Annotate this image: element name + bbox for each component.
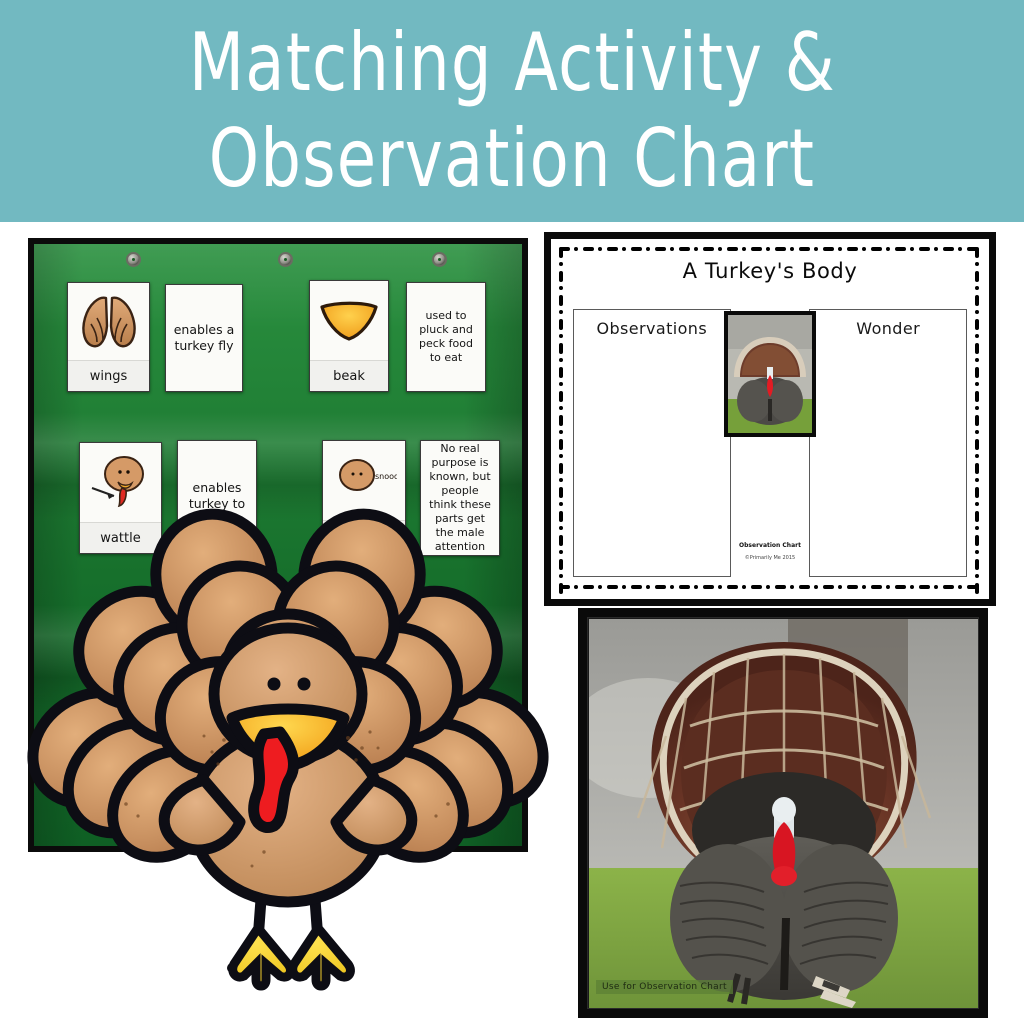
picture-card-wings[interactable]: wings bbox=[67, 282, 150, 392]
description-card-beak[interactable]: used to pluck and peck food to eat bbox=[406, 282, 486, 392]
grommet-icon bbox=[432, 252, 447, 267]
page-root: Matching Activity & Observation Chart bbox=[0, 0, 1024, 1024]
beak-card-label: beak bbox=[310, 360, 388, 391]
description-card-wings-text: enables a turkey fly bbox=[171, 322, 237, 354]
real-turkey-photograph-frame: Use for Observation Chart bbox=[578, 608, 988, 1018]
observations-column-heading: Observations bbox=[574, 310, 730, 338]
picture-card-beak[interactable]: beak bbox=[309, 280, 389, 392]
beak-icon bbox=[310, 281, 388, 360]
wonder-column[interactable]: Wonder bbox=[809, 309, 967, 577]
real-turkey-photograph: Use for Observation Chart bbox=[587, 617, 979, 1009]
description-card-wings[interactable]: enables a turkey fly bbox=[165, 284, 243, 392]
chart-center-strip: Observation Chart ©Primarily Me 2015 bbox=[731, 309, 810, 577]
chart-footer: Observation Chart ©Primarily Me 2015 bbox=[731, 542, 810, 561]
header-banner: Matching Activity & Observation Chart bbox=[0, 0, 1024, 222]
wonder-column-heading: Wonder bbox=[810, 310, 966, 338]
description-card-beak-text: used to pluck and peck food to eat bbox=[412, 309, 480, 365]
observation-chart-columns: Observations bbox=[573, 309, 967, 577]
observation-chart-paper: A Turkey's Body Observations bbox=[551, 239, 989, 599]
wings-icon bbox=[68, 283, 149, 360]
observations-column[interactable]: Observations bbox=[573, 309, 731, 577]
turkey-thumbnail-photo bbox=[724, 311, 816, 437]
page-title-line1: Matching Activity & bbox=[188, 15, 835, 111]
observation-chart-sheet-frame: A Turkey's Body Observations bbox=[544, 232, 996, 606]
chart-footer-line1: Observation Chart bbox=[731, 542, 810, 549]
observation-chart-title: A Turkey's Body bbox=[563, 259, 977, 283]
grommet-icon bbox=[278, 252, 293, 267]
grommet-icon bbox=[126, 252, 141, 267]
photo-caption: Use for Observation Chart bbox=[596, 980, 733, 994]
cartoon-turkey-illustration bbox=[18, 448, 558, 996]
chart-footer-line2: ©Primarily Me 2015 bbox=[731, 555, 810, 561]
wings-card-label: wings bbox=[68, 360, 149, 391]
page-title-line2: Observation Chart bbox=[209, 111, 815, 207]
